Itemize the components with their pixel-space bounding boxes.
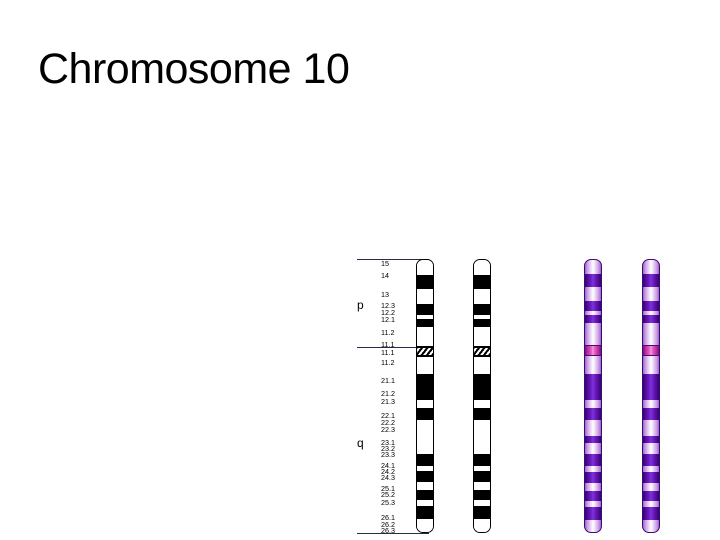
ideogram-band-light xyxy=(417,260,433,275)
chromosome-band-dark xyxy=(585,301,601,311)
ideogram-band-dark xyxy=(417,319,433,327)
ideogram-band-light xyxy=(474,289,490,304)
ideogram-band-dark xyxy=(474,471,490,482)
chromosome-arm-q xyxy=(642,355,660,533)
ideogram-arm-q xyxy=(416,356,434,533)
page-title: Chromosome 10 xyxy=(38,42,349,96)
slide-canvas: Chromosome 10 p q 15141312.312.212.111.2… xyxy=(0,0,720,540)
band-label: 26.3 xyxy=(381,527,395,534)
chromosome-band-dark xyxy=(585,274,601,287)
ideogram-band-dark xyxy=(417,304,433,315)
arm-label-q: q xyxy=(357,437,364,449)
chromosome-band-light xyxy=(585,520,601,533)
chromosome-band-light xyxy=(643,483,659,491)
chromosome-band-light xyxy=(585,420,601,436)
ideogram-1 xyxy=(416,259,434,533)
chromosome-arm-q xyxy=(584,355,602,533)
chromosome-band-light xyxy=(643,520,659,533)
ideogram-band-light xyxy=(417,420,433,436)
centromere-hatch xyxy=(416,347,434,356)
chromosome-band-dark xyxy=(643,274,659,287)
band-label: 21.3 xyxy=(381,398,395,405)
ideogram-band-light xyxy=(417,436,433,454)
centromere-hatch xyxy=(473,347,491,356)
chromosome-band-dark xyxy=(585,472,601,483)
ideogram-band-dark xyxy=(474,408,490,420)
band-label: 23.3 xyxy=(381,451,395,458)
ideogram-band-dark xyxy=(474,319,490,327)
band-label: 11.2 xyxy=(381,329,394,336)
chromosome-band-dark xyxy=(643,507,659,520)
band-label: 11.1 xyxy=(381,349,394,356)
ideogram-band-dark xyxy=(474,490,490,500)
band-label: 12.1 xyxy=(381,316,395,323)
chromosome-ideogram-figure: p q 15141312.312.212.111.211.111.111.221… xyxy=(352,255,688,540)
ideogram-band-light xyxy=(474,400,490,408)
ideogram-band-dark xyxy=(417,454,433,466)
chromosome-1 xyxy=(584,259,602,533)
chromosome-band-dark xyxy=(585,315,601,323)
chromosome-band-light xyxy=(585,323,601,346)
chromosome-band-dark xyxy=(643,374,659,400)
ideogram-band-light xyxy=(417,327,433,347)
ideogram-band-light xyxy=(474,327,490,347)
ideogram-band-light xyxy=(474,357,490,374)
chromosome-band-light xyxy=(643,420,659,436)
chromosome-band-dark xyxy=(643,408,659,420)
chromosome-band-light xyxy=(585,400,601,408)
ideogram-band-light xyxy=(417,400,433,408)
ideogram-band-dark xyxy=(417,506,433,519)
chromosome-band-dark xyxy=(585,507,601,520)
chromosome-band-dark xyxy=(643,472,659,483)
ideogram-band-light xyxy=(417,482,433,490)
ideogram-band-dark xyxy=(417,408,433,420)
chromosome-band-dark xyxy=(585,374,601,400)
band-label: 24.3 xyxy=(381,474,395,481)
chromosome-band-dark xyxy=(643,491,659,501)
chromosome-band-light xyxy=(585,287,601,301)
band-label: 25.3 xyxy=(381,499,395,506)
chromosome-arm-p xyxy=(642,259,660,346)
band-label: 11.2 xyxy=(381,359,394,366)
chromosome-band-light xyxy=(585,483,601,491)
ideogram-band-dark xyxy=(474,454,490,466)
ideogram-band-light xyxy=(474,420,490,436)
arm-label-p: p xyxy=(357,299,364,311)
chromosome-band-dark xyxy=(643,301,659,311)
chromosome-band-dark xyxy=(585,408,601,420)
ideogram-band-light xyxy=(417,519,433,533)
ideogram-band-dark xyxy=(417,471,433,482)
chromosome-band-dark xyxy=(585,454,601,466)
centromere-constriction xyxy=(642,345,660,356)
chromosome-band-light xyxy=(643,356,659,374)
chromosome-band-light xyxy=(643,260,659,274)
band-label: 15 xyxy=(381,260,389,267)
ideogram-band-dark xyxy=(417,275,433,289)
band-label: 22.3 xyxy=(381,426,395,433)
chromosome-band-dark xyxy=(643,436,659,443)
band-label: 14 xyxy=(381,272,389,279)
chromosome-band-dark xyxy=(585,491,601,501)
ideogram-band-dark xyxy=(417,374,433,400)
chromosome-band-light xyxy=(643,323,659,346)
ideogram-band-light xyxy=(474,519,490,533)
ideogram-band-light xyxy=(474,260,490,275)
chromosome-2 xyxy=(642,259,660,533)
ideogram-2 xyxy=(473,259,491,533)
band-label: 21.1 xyxy=(381,377,395,384)
ideogram-band-light xyxy=(474,436,490,454)
ideogram-band-light xyxy=(417,289,433,304)
ideogram-band-dark xyxy=(474,506,490,519)
chromosome-band-light xyxy=(585,443,601,454)
chromosome-band-light xyxy=(585,260,601,274)
ideogram-band-light xyxy=(474,482,490,490)
chromosome-band-light xyxy=(643,287,659,301)
ideogram-arm-p xyxy=(416,259,434,347)
ideogram-band-dark xyxy=(417,490,433,500)
ideogram-band-dark xyxy=(474,374,490,400)
centromere-constriction xyxy=(584,345,602,356)
chromosome-band-dark xyxy=(643,315,659,323)
band-label: 13 xyxy=(381,291,389,298)
chromosome-band-light xyxy=(643,443,659,454)
chromosome-arm-p xyxy=(584,259,602,346)
ideogram-arm-q xyxy=(473,356,491,533)
ideogram-arm-p xyxy=(473,259,491,347)
chromosome-band-light xyxy=(585,356,601,374)
ideogram-band-light xyxy=(417,357,433,374)
chromosome-band-dark xyxy=(643,454,659,466)
ideogram-band-dark xyxy=(474,304,490,315)
chromosome-band-light xyxy=(643,400,659,408)
chromosome-band-dark xyxy=(585,436,601,443)
ideogram-band-dark xyxy=(474,275,490,289)
